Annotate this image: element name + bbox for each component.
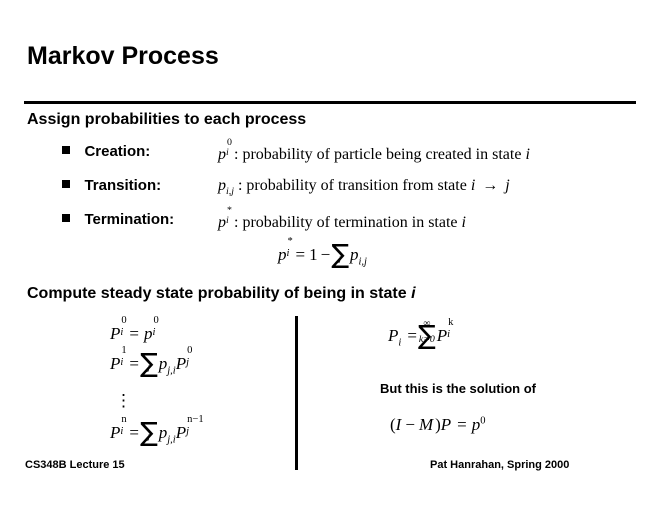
list-item-termination: Termination: p*i: probability of termina… (62, 211, 174, 237)
slide-canvas: Markov Process Assign probabilities to e… (0, 0, 660, 510)
subscript-ji: j,i (167, 434, 176, 445)
bullet-label-creation: Creation: (84, 143, 150, 160)
symbol-P: P (437, 326, 447, 345)
footer-course-label: CS348B Lecture 15 (25, 459, 125, 471)
trailing-variable-j: j (505, 177, 509, 194)
section-heading-assign: Assign probabilities to each process (27, 111, 306, 129)
equation-termination-probability: p*i=1−∑jpi,j (278, 243, 367, 268)
symbol-P: P (176, 354, 186, 373)
subscript-ij: i,j (358, 256, 367, 267)
arrow-right-icon: → (482, 177, 498, 194)
equation-iteration-1: P1i=∑jpj,iP0j (110, 352, 186, 377)
bullet-label-transition: Transition: (84, 177, 161, 194)
equals-sign: = (457, 415, 467, 434)
math-termination-definition: p*i: probability of termination in state… (218, 211, 466, 232)
subscript-i: i (120, 327, 123, 338)
summation-operator: ∞∑k=0 (418, 325, 436, 349)
subscript-i: i (447, 329, 450, 340)
subscript-i: i (226, 147, 229, 158)
superscript-star: * (288, 236, 293, 247)
symbol-P: P (176, 423, 186, 442)
subscript-i: i (120, 357, 123, 368)
symbol-p: p (218, 146, 226, 163)
list-item-transition: Transition: pi,j: probability of transit… (62, 177, 161, 203)
square-bullet-icon (62, 180, 70, 188)
symbol-P: P (110, 354, 120, 373)
minus-sign: − (321, 245, 331, 264)
equals-sign: = (129, 354, 139, 373)
symbol-p: p (218, 214, 226, 231)
symbol-p: p (144, 324, 153, 343)
symbol-p: p (278, 245, 287, 264)
superscript-0: 0 (480, 415, 485, 426)
equals-sign: = (129, 423, 139, 442)
equation-total-probability: Pi=∞∑k=0Pki (388, 324, 447, 349)
trailing-variable-i: i (462, 214, 466, 231)
note-solution-of: But this is the solution of (380, 381, 536, 396)
symbol-p: p (159, 423, 168, 442)
superscript-n-minus-1: n−1 (187, 414, 203, 425)
list-item-creation: Creation: p0i: probability of particle b… (62, 143, 150, 169)
subscript-i: i (287, 248, 290, 259)
sum-index-j: j (331, 254, 349, 264)
equation-iteration-n: Pni=∑jpj,iPn−1j (110, 421, 186, 446)
superscript-k: k (448, 317, 453, 328)
symbol-p: p (472, 415, 481, 434)
summation-operator: ∑j (140, 353, 158, 377)
subscript-i: i (398, 337, 401, 348)
equals-sign: = (407, 326, 417, 345)
trailing-variable-i: i (471, 177, 475, 194)
description-text-transition: : probability of transition from state (238, 177, 471, 194)
subscript-ij: i,j (226, 186, 234, 197)
page-title: Markov Process (27, 42, 219, 71)
equation-iteration-0: P0i=p0i (110, 322, 152, 344)
symbol-p: p (159, 354, 168, 373)
symbol-P: P (441, 415, 451, 434)
superscript-0: 0 (227, 137, 232, 148)
sum-index-j: j (140, 432, 158, 442)
subscript-j: j (186, 426, 189, 437)
section-heading-compute: Compute steady state probability of bein… (27, 285, 416, 303)
number-one: 1 (309, 245, 318, 264)
equals-sign: = (296, 245, 306, 264)
square-bullet-icon (62, 146, 70, 154)
superscript-1: 1 (121, 345, 126, 356)
description-text-creation: : probability of particle being created … (234, 146, 525, 163)
subscript-j: j (186, 357, 189, 368)
subscript-i: i (120, 426, 123, 437)
superscript-0: 0 (121, 315, 126, 326)
summation-operator: ∑j (140, 422, 158, 446)
superscript-0: 0 (153, 315, 158, 326)
symbol-P: P (110, 423, 120, 442)
superscript-0: 0 (187, 345, 192, 356)
description-text-termination: : probability of termination in state (234, 214, 462, 231)
minus-sign: − (405, 415, 415, 434)
compute-heading-text: Compute steady state probability of bein… (27, 285, 411, 302)
sum-upper-limit-infinity: ∞ (418, 319, 436, 329)
sum-lower-limit-k0: k=0 (418, 335, 436, 345)
compute-heading-variable: i (411, 285, 415, 302)
superscript-star: * (227, 205, 232, 216)
subscript-ji: j,i (167, 365, 176, 376)
vertical-ellipsis: ⋮ (115, 392, 132, 409)
square-bullet-icon (62, 214, 70, 222)
trailing-variable-i: i (525, 146, 529, 163)
symbol-P: P (388, 326, 398, 345)
bullet-label-termination: Termination: (84, 211, 174, 228)
equals-sign: = (129, 324, 139, 343)
symbol-P: P (110, 324, 120, 343)
symbol-M: M (419, 415, 433, 434)
sum-index-j: j (140, 363, 158, 373)
subscript-i: i (152, 327, 155, 338)
math-transition-definition: pi,j: probability of transition from sta… (218, 177, 510, 195)
symbol-p: p (218, 177, 226, 194)
title-divider-rule (24, 101, 636, 104)
column-divider (295, 316, 298, 470)
summation-operator: ∑j (331, 244, 349, 268)
symbol-I: I (396, 415, 402, 434)
footer-author-label: Pat Hanrahan, Spring 2000 (430, 459, 569, 471)
equation-linear-system: (I−M)P=p0 (390, 415, 486, 435)
subscript-i: i (226, 215, 229, 226)
superscript-n: n (121, 414, 126, 425)
math-creation-definition: p0i: probability of particle being creat… (218, 143, 530, 164)
